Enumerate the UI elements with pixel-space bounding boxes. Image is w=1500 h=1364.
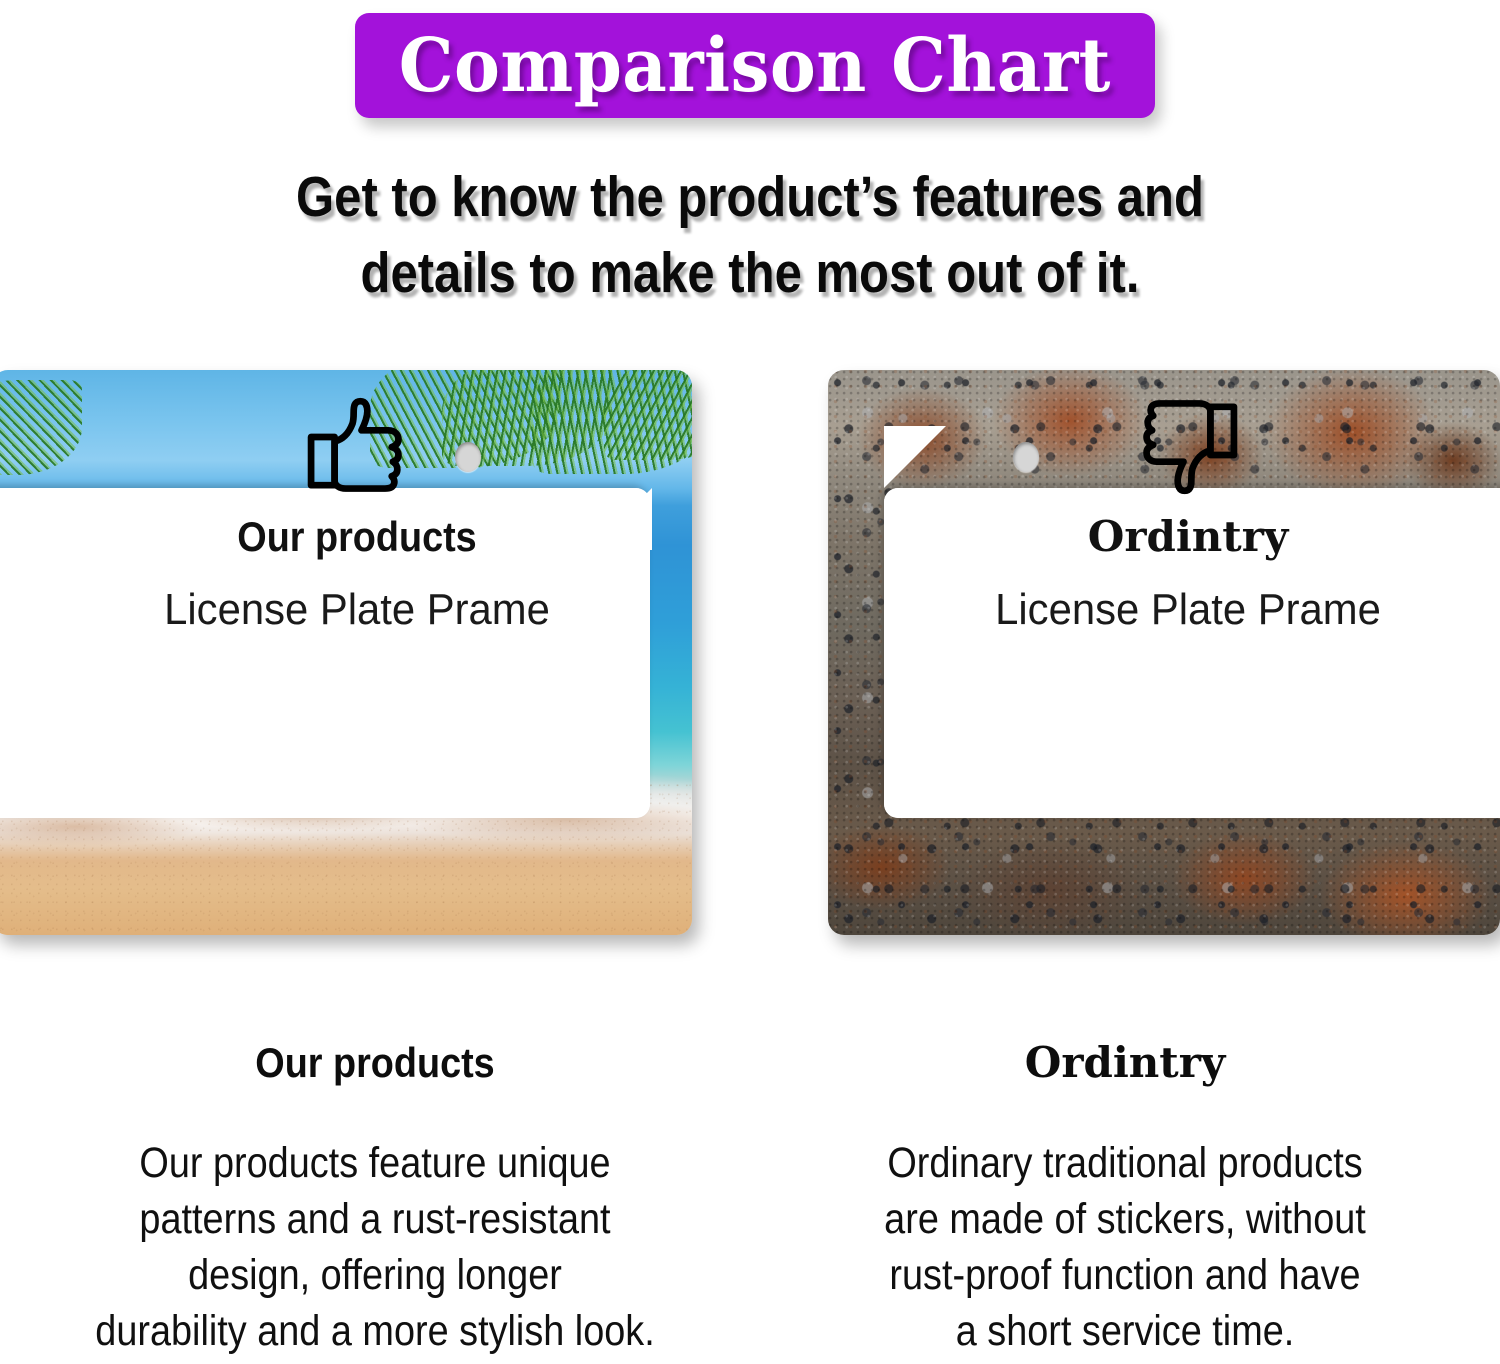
title-banner: Comparison Chart — [355, 13, 1155, 118]
description-col-ordintry: Ordintry Ordinary traditional products a… — [750, 1020, 1500, 1364]
page-subtitle-line-2: details to make the most out of it. — [105, 236, 1395, 312]
plate-window-content-ordintry: Ordintry License Plate Prame — [828, 370, 1500, 935]
thumbs-up-icon — [301, 390, 413, 502]
product-frame-ours: Our products License Plate Prame — [0, 362, 692, 952]
brand-name-ordintry: Ordintry — [1088, 516, 1289, 558]
description-line: patterns and a rust-resistant — [71, 1192, 678, 1248]
description-body-ordintry: Ordinary traditional products are made o… — [780, 1136, 1470, 1360]
thumbs-down-icon — [1132, 390, 1244, 502]
description-line: Our products feature unique — [71, 1136, 678, 1192]
product-frames-row: Our products License Plate Prame Or — [0, 362, 1500, 962]
description-line: are made of stickers, without — [821, 1192, 1428, 1248]
description-line: Ordinary traditional products — [821, 1136, 1428, 1192]
description-line: design, offering longer — [71, 1248, 678, 1304]
description-heading-ordintry: Ordintry — [1025, 1042, 1226, 1084]
product-frame-ordintry: Ordintry License Plate Prame — [828, 362, 1500, 952]
page-header: Comparison Chart Get to know the product… — [0, 0, 1500, 330]
page-subtitle-line-1: Get to know the product’s features and — [105, 160, 1395, 236]
description-body-ours: Our products feature unique patterns and… — [30, 1136, 720, 1360]
license-plate-frame-beach: Our products License Plate Prame — [0, 370, 692, 935]
description-line: durability and a more stylish look. — [71, 1304, 678, 1360]
page-title: Comparison Chart — [399, 29, 1111, 103]
brand-name-ours: Our products — [237, 516, 476, 558]
description-row: Our products Our products feature unique… — [0, 1020, 1500, 1364]
description-heading-ours: Our products — [255, 1042, 494, 1084]
page-subtitle: Get to know the product’s features and d… — [0, 160, 1500, 312]
plate-window-content-ours: Our products License Plate Prame — [0, 370, 692, 935]
description-line: a short service time. — [821, 1304, 1428, 1360]
product-label-ours: License Plate Prame — [164, 588, 550, 632]
license-plate-frame-rust: Ordintry License Plate Prame — [828, 370, 1500, 935]
description-col-ours: Our products Our products feature unique… — [0, 1020, 750, 1364]
product-label-ordintry: License Plate Prame — [995, 588, 1381, 632]
description-line: rust-proof function and have — [821, 1248, 1428, 1304]
